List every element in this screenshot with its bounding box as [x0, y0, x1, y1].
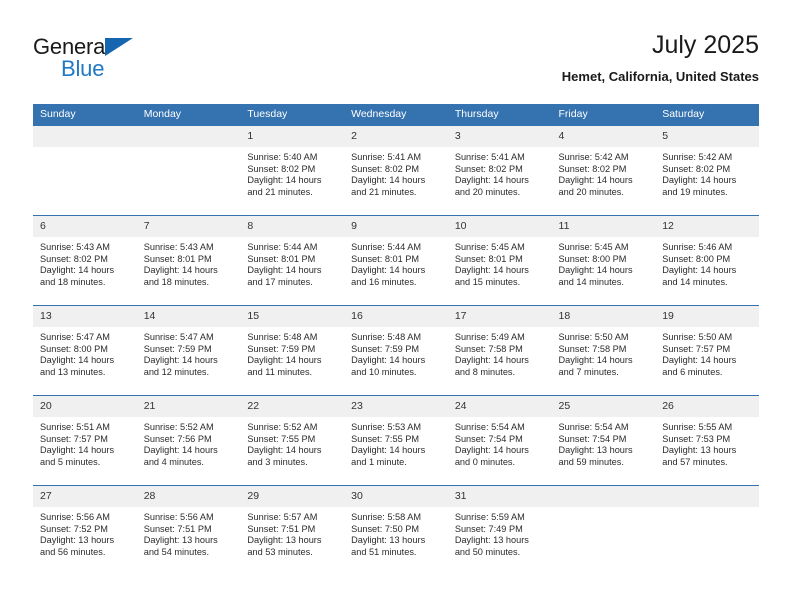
sunrise-text: Sunrise: 5:54 AM	[455, 422, 546, 434]
daylight-text-line2: and 0 minutes.	[455, 457, 546, 469]
day-number: 2	[344, 126, 448, 147]
sunset-text: Sunset: 8:00 PM	[40, 344, 131, 356]
day-number: 1	[240, 126, 344, 147]
sunrise-text: Sunrise: 5:41 AM	[455, 152, 546, 164]
sunrise-text: Sunrise: 5:45 AM	[455, 242, 546, 254]
daylight-text-line1: Daylight: 14 hours	[662, 175, 753, 187]
day-number: 29	[240, 486, 344, 507]
daylight-text-line1: Daylight: 14 hours	[455, 355, 546, 367]
day-sun-info: Sunrise: 5:58 AMSunset: 7:50 PMDaylight:…	[344, 507, 448, 558]
calendar-day-cell[interactable]: 24Sunrise: 5:54 AMSunset: 7:54 PMDayligh…	[448, 396, 552, 486]
sunset-text: Sunset: 8:00 PM	[662, 254, 753, 266]
day-sun-info: Sunrise: 5:43 AMSunset: 8:01 PMDaylight:…	[137, 237, 241, 288]
weekday-header-thursday: Thursday	[448, 104, 552, 126]
sunset-text: Sunset: 7:59 PM	[247, 344, 338, 356]
day-number: 12	[655, 216, 759, 237]
daylight-text-line1: Daylight: 14 hours	[351, 445, 442, 457]
sunrise-text: Sunrise: 5:50 AM	[559, 332, 650, 344]
day-sun-info: Sunrise: 5:42 AMSunset: 8:02 PMDaylight:…	[552, 147, 656, 198]
daylight-text-line2: and 14 minutes.	[662, 277, 753, 289]
daylight-text-line1: Daylight: 14 hours	[559, 265, 650, 277]
day-sun-info: Sunrise: 5:59 AMSunset: 7:49 PMDaylight:…	[448, 507, 552, 558]
weekday-header-tuesday: Tuesday	[240, 104, 344, 126]
sunrise-text: Sunrise: 5:42 AM	[559, 152, 650, 164]
calendar-day-cell[interactable]: 21Sunrise: 5:52 AMSunset: 7:56 PMDayligh…	[137, 396, 241, 486]
daylight-text-line2: and 17 minutes.	[247, 277, 338, 289]
sunset-text: Sunset: 7:52 PM	[40, 524, 131, 536]
page-header: General Blue July 2025 Hemet, California…	[33, 30, 759, 100]
daylight-text-line2: and 54 minutes.	[144, 547, 235, 559]
daylight-text-line1: Daylight: 13 hours	[40, 535, 131, 547]
daylight-text-line2: and 4 minutes.	[144, 457, 235, 469]
sunset-text: Sunset: 7:49 PM	[455, 524, 546, 536]
sunset-text: Sunset: 7:59 PM	[351, 344, 442, 356]
day-sun-info: Sunrise: 5:56 AMSunset: 7:51 PMDaylight:…	[137, 507, 241, 558]
sunrise-text: Sunrise: 5:48 AM	[247, 332, 338, 344]
daylight-text-line2: and 56 minutes.	[40, 547, 131, 559]
daylight-text-line2: and 15 minutes.	[455, 277, 546, 289]
day-sun-info: Sunrise: 5:44 AMSunset: 8:01 PMDaylight:…	[240, 237, 344, 288]
sunrise-text: Sunrise: 5:49 AM	[455, 332, 546, 344]
sunset-text: Sunset: 7:54 PM	[559, 434, 650, 446]
day-number: 6	[33, 216, 137, 237]
daylight-text-line1: Daylight: 14 hours	[662, 265, 753, 277]
sunset-text: Sunset: 7:58 PM	[559, 344, 650, 356]
daylight-text-line2: and 13 minutes.	[40, 367, 131, 379]
daylight-text-line2: and 57 minutes.	[662, 457, 753, 469]
weekday-header-monday: Monday	[137, 104, 241, 126]
day-number	[552, 486, 656, 507]
daylight-text-line2: and 11 minutes.	[247, 367, 338, 379]
daylight-text-line2: and 21 minutes.	[247, 187, 338, 199]
daylight-text-line1: Daylight: 14 hours	[247, 355, 338, 367]
page-title: July 2025	[562, 30, 759, 60]
sunset-text: Sunset: 8:02 PM	[455, 164, 546, 176]
daylight-text-line1: Daylight: 14 hours	[559, 175, 650, 187]
calendar-day-cell[interactable]: 10Sunrise: 5:45 AMSunset: 8:01 PMDayligh…	[448, 216, 552, 306]
daylight-text-line2: and 7 minutes.	[559, 367, 650, 379]
sunrise-text: Sunrise: 5:56 AM	[144, 512, 235, 524]
calendar-body: 1Sunrise: 5:40 AMSunset: 8:02 PMDaylight…	[33, 126, 759, 576]
sunrise-text: Sunrise: 5:47 AM	[144, 332, 235, 344]
daylight-text-line2: and 50 minutes.	[455, 547, 546, 559]
sunrise-text: Sunrise: 5:46 AM	[662, 242, 753, 254]
daylight-text-line2: and 20 minutes.	[455, 187, 546, 199]
sunset-text: Sunset: 8:02 PM	[559, 164, 650, 176]
day-number: 15	[240, 306, 344, 327]
day-number: 10	[448, 216, 552, 237]
calendar-day-cell[interactable]: 4Sunrise: 5:42 AMSunset: 8:02 PMDaylight…	[552, 126, 656, 216]
daylight-text-line2: and 19 minutes.	[662, 187, 753, 199]
sunrise-text: Sunrise: 5:44 AM	[247, 242, 338, 254]
day-sun-info: Sunrise: 5:48 AMSunset: 7:59 PMDaylight:…	[240, 327, 344, 378]
calendar-day-cell[interactable]: 3Sunrise: 5:41 AMSunset: 8:02 PMDaylight…	[448, 126, 552, 216]
daylight-text-line1: Daylight: 14 hours	[247, 175, 338, 187]
sunrise-text: Sunrise: 5:52 AM	[247, 422, 338, 434]
sunrise-text: Sunrise: 5:59 AM	[455, 512, 546, 524]
daylight-text-line2: and 53 minutes.	[247, 547, 338, 559]
day-number: 31	[448, 486, 552, 507]
daylight-text-line2: and 12 minutes.	[144, 367, 235, 379]
sunset-text: Sunset: 8:01 PM	[455, 254, 546, 266]
calendar-day-cell[interactable]: 5Sunrise: 5:42 AMSunset: 8:02 PMDaylight…	[655, 126, 759, 216]
sunrise-text: Sunrise: 5:45 AM	[559, 242, 650, 254]
sunset-text: Sunset: 7:56 PM	[144, 434, 235, 446]
calendar-cell-empty	[552, 486, 656, 576]
calendar-day-cell[interactable]: 8Sunrise: 5:44 AMSunset: 8:01 PMDaylight…	[240, 216, 344, 306]
calendar-day-cell[interactable]: 13Sunrise: 5:47 AMSunset: 8:00 PMDayligh…	[33, 306, 137, 396]
sunset-text: Sunset: 7:55 PM	[247, 434, 338, 446]
calendar-day-cell[interactable]: 12Sunrise: 5:46 AMSunset: 8:00 PMDayligh…	[655, 216, 759, 306]
daylight-text-line1: Daylight: 14 hours	[351, 355, 442, 367]
day-sun-info: Sunrise: 5:53 AMSunset: 7:55 PMDaylight:…	[344, 417, 448, 468]
calendar-week-row: 6Sunrise: 5:43 AMSunset: 8:02 PMDaylight…	[33, 216, 759, 306]
sunrise-text: Sunrise: 5:51 AM	[40, 422, 131, 434]
day-number: 8	[240, 216, 344, 237]
sunrise-text: Sunrise: 5:55 AM	[662, 422, 753, 434]
day-number: 24	[448, 396, 552, 417]
day-number: 25	[552, 396, 656, 417]
sunset-text: Sunset: 7:57 PM	[662, 344, 753, 356]
sunrise-text: Sunrise: 5:44 AM	[351, 242, 442, 254]
day-sun-info: Sunrise: 5:51 AMSunset: 7:57 PMDaylight:…	[33, 417, 137, 468]
title-block: July 2025 Hemet, California, United Stat…	[562, 30, 759, 85]
sunset-text: Sunset: 8:02 PM	[351, 164, 442, 176]
sunrise-text: Sunrise: 5:41 AM	[351, 152, 442, 164]
daylight-text-line1: Daylight: 13 hours	[351, 535, 442, 547]
day-sun-info: Sunrise: 5:46 AMSunset: 8:00 PMDaylight:…	[655, 237, 759, 288]
calendar-week-row: 13Sunrise: 5:47 AMSunset: 8:00 PMDayligh…	[33, 306, 759, 396]
calendar-day-cell[interactable]: 19Sunrise: 5:50 AMSunset: 7:57 PMDayligh…	[655, 306, 759, 396]
daylight-text-line1: Daylight: 14 hours	[455, 265, 546, 277]
daylight-text-line2: and 51 minutes.	[351, 547, 442, 559]
daylight-text-line2: and 8 minutes.	[455, 367, 546, 379]
day-number: 27	[33, 486, 137, 507]
day-sun-info: Sunrise: 5:55 AMSunset: 7:53 PMDaylight:…	[655, 417, 759, 468]
day-sun-info: Sunrise: 5:43 AMSunset: 8:02 PMDaylight:…	[33, 237, 137, 288]
weekday-header-sunday: Sunday	[33, 104, 137, 126]
day-number: 22	[240, 396, 344, 417]
sunset-text: Sunset: 8:00 PM	[559, 254, 650, 266]
sunset-text: Sunset: 8:01 PM	[247, 254, 338, 266]
day-sun-info: Sunrise: 5:45 AMSunset: 8:01 PMDaylight:…	[448, 237, 552, 288]
daylight-text-line2: and 20 minutes.	[559, 187, 650, 199]
day-number	[655, 486, 759, 507]
sunset-text: Sunset: 8:01 PM	[144, 254, 235, 266]
sunrise-text: Sunrise: 5:56 AM	[40, 512, 131, 524]
daylight-text-line1: Daylight: 14 hours	[351, 175, 442, 187]
day-number: 5	[655, 126, 759, 147]
calendar-day-cell[interactable]: 2Sunrise: 5:41 AMSunset: 8:02 PMDaylight…	[344, 126, 448, 216]
day-number	[137, 126, 241, 147]
daylight-text-line2: and 6 minutes.	[662, 367, 753, 379]
day-sun-info: Sunrise: 5:48 AMSunset: 7:59 PMDaylight:…	[344, 327, 448, 378]
day-sun-info: Sunrise: 5:42 AMSunset: 8:02 PMDaylight:…	[655, 147, 759, 198]
daylight-text-line1: Daylight: 14 hours	[351, 265, 442, 277]
daylight-text-line2: and 1 minute.	[351, 457, 442, 469]
daylight-text-line2: and 5 minutes.	[40, 457, 131, 469]
calendar-day-cell[interactable]: 23Sunrise: 5:53 AMSunset: 7:55 PMDayligh…	[344, 396, 448, 486]
day-sun-info: Sunrise: 5:49 AMSunset: 7:58 PMDaylight:…	[448, 327, 552, 378]
location-subtitle: Hemet, California, United States	[562, 69, 759, 85]
sunset-text: Sunset: 7:54 PM	[455, 434, 546, 446]
calendar-day-cell[interactable]: 17Sunrise: 5:49 AMSunset: 7:58 PMDayligh…	[448, 306, 552, 396]
sunset-text: Sunset: 7:55 PM	[351, 434, 442, 446]
day-sun-info: Sunrise: 5:45 AMSunset: 8:00 PMDaylight:…	[552, 237, 656, 288]
day-number: 23	[344, 396, 448, 417]
sunrise-text: Sunrise: 5:48 AM	[351, 332, 442, 344]
sunrise-text: Sunrise: 5:54 AM	[559, 422, 650, 434]
daylight-text-line1: Daylight: 14 hours	[144, 265, 235, 277]
day-number: 18	[552, 306, 656, 327]
day-sun-info: Sunrise: 5:40 AMSunset: 8:02 PMDaylight:…	[240, 147, 344, 198]
sunrise-text: Sunrise: 5:50 AM	[662, 332, 753, 344]
sunset-text: Sunset: 7:59 PM	[144, 344, 235, 356]
calendar-table: Sunday Monday Tuesday Wednesday Thursday…	[33, 104, 759, 576]
day-sun-info: Sunrise: 5:50 AMSunset: 7:57 PMDaylight:…	[655, 327, 759, 378]
calendar-day-cell[interactable]: 27Sunrise: 5:56 AMSunset: 7:52 PMDayligh…	[33, 486, 137, 576]
day-number: 11	[552, 216, 656, 237]
day-number: 3	[448, 126, 552, 147]
daylight-text-line1: Daylight: 14 hours	[40, 355, 131, 367]
calendar-cell-empty	[33, 126, 137, 216]
daylight-text-line2: and 59 minutes.	[559, 457, 650, 469]
day-sun-info: Sunrise: 5:41 AMSunset: 8:02 PMDaylight:…	[344, 147, 448, 198]
sunrise-text: Sunrise: 5:40 AM	[247, 152, 338, 164]
day-number: 21	[137, 396, 241, 417]
sunset-text: Sunset: 7:50 PM	[351, 524, 442, 536]
calendar-week-row: 20Sunrise: 5:51 AMSunset: 7:57 PMDayligh…	[33, 396, 759, 486]
sunset-text: Sunset: 7:57 PM	[40, 434, 131, 446]
daylight-text-line1: Daylight: 14 hours	[247, 445, 338, 457]
general-blue-logo[interactable]: General Blue	[33, 34, 213, 86]
daylight-text-line2: and 10 minutes.	[351, 367, 442, 379]
weekday-header-friday: Friday	[552, 104, 656, 126]
calendar-day-cell[interactable]: 25Sunrise: 5:54 AMSunset: 7:54 PMDayligh…	[552, 396, 656, 486]
sunrise-text: Sunrise: 5:58 AM	[351, 512, 442, 524]
day-sun-info: Sunrise: 5:50 AMSunset: 7:58 PMDaylight:…	[552, 327, 656, 378]
daylight-text-line1: Daylight: 14 hours	[144, 355, 235, 367]
sunset-text: Sunset: 8:02 PM	[247, 164, 338, 176]
day-number: 7	[137, 216, 241, 237]
sunrise-text: Sunrise: 5:43 AM	[40, 242, 131, 254]
calendar-day-cell[interactable]: 31Sunrise: 5:59 AMSunset: 7:49 PMDayligh…	[448, 486, 552, 576]
daylight-text-line1: Daylight: 14 hours	[40, 265, 131, 277]
daylight-text-line1: Daylight: 14 hours	[40, 445, 131, 457]
daylight-text-line1: Daylight: 13 hours	[247, 535, 338, 547]
calendar-day-cell[interactable]: 18Sunrise: 5:50 AMSunset: 7:58 PMDayligh…	[552, 306, 656, 396]
calendar-day-cell[interactable]: 7Sunrise: 5:43 AMSunset: 8:01 PMDaylight…	[137, 216, 241, 306]
daylight-text-line2: and 18 minutes.	[144, 277, 235, 289]
day-number: 17	[448, 306, 552, 327]
daylight-text-line2: and 16 minutes.	[351, 277, 442, 289]
calendar-day-cell[interactable]: 20Sunrise: 5:51 AMSunset: 7:57 PMDayligh…	[33, 396, 137, 486]
calendar-cell-empty	[137, 126, 241, 216]
day-number	[33, 126, 137, 147]
daylight-text-line2: and 18 minutes.	[40, 277, 131, 289]
sunrise-text: Sunrise: 5:53 AM	[351, 422, 442, 434]
sunset-text: Sunset: 7:51 PM	[144, 524, 235, 536]
day-number: 20	[33, 396, 137, 417]
calendar-week-row: 27Sunrise: 5:56 AMSunset: 7:52 PMDayligh…	[33, 486, 759, 576]
day-sun-info: Sunrise: 5:57 AMSunset: 7:51 PMDaylight:…	[240, 507, 344, 558]
sunrise-text: Sunrise: 5:47 AM	[40, 332, 131, 344]
calendar-day-cell[interactable]: 6Sunrise: 5:43 AMSunset: 8:02 PMDaylight…	[33, 216, 137, 306]
day-sun-info: Sunrise: 5:54 AMSunset: 7:54 PMDaylight:…	[552, 417, 656, 468]
calendar-day-cell[interactable]: 9Sunrise: 5:44 AMSunset: 8:01 PMDaylight…	[344, 216, 448, 306]
calendar-day-cell[interactable]: 22Sunrise: 5:52 AMSunset: 7:55 PMDayligh…	[240, 396, 344, 486]
calendar-day-cell[interactable]: 14Sunrise: 5:47 AMSunset: 7:59 PMDayligh…	[137, 306, 241, 396]
day-number: 9	[344, 216, 448, 237]
calendar-cell-empty	[655, 486, 759, 576]
day-number: 26	[655, 396, 759, 417]
calendar-page: General Blue July 2025 Hemet, California…	[0, 0, 792, 612]
daylight-text-line1: Daylight: 14 hours	[662, 355, 753, 367]
sunrise-text: Sunrise: 5:57 AM	[247, 512, 338, 524]
sunrise-text: Sunrise: 5:42 AM	[662, 152, 753, 164]
day-number: 13	[33, 306, 137, 327]
daylight-text-line1: Daylight: 13 hours	[662, 445, 753, 457]
daylight-text-line2: and 3 minutes.	[247, 457, 338, 469]
day-sun-info: Sunrise: 5:52 AMSunset: 7:56 PMDaylight:…	[137, 417, 241, 468]
weekday-header-saturday: Saturday	[655, 104, 759, 126]
sunset-text: Sunset: 7:51 PM	[247, 524, 338, 536]
daylight-text-line2: and 14 minutes.	[559, 277, 650, 289]
calendar-day-cell[interactable]: 26Sunrise: 5:55 AMSunset: 7:53 PMDayligh…	[655, 396, 759, 486]
daylight-text-line1: Daylight: 14 hours	[247, 265, 338, 277]
logo-word-blue: Blue	[61, 56, 104, 82]
day-sun-info: Sunrise: 5:44 AMSunset: 8:01 PMDaylight:…	[344, 237, 448, 288]
sunset-text: Sunset: 7:58 PM	[455, 344, 546, 356]
day-number: 19	[655, 306, 759, 327]
sunset-text: Sunset: 8:02 PM	[662, 164, 753, 176]
calendar-day-cell[interactable]: 30Sunrise: 5:58 AMSunset: 7:50 PMDayligh…	[344, 486, 448, 576]
calendar-day-cell[interactable]: 1Sunrise: 5:40 AMSunset: 8:02 PMDaylight…	[240, 126, 344, 216]
daylight-text-line1: Daylight: 13 hours	[144, 535, 235, 547]
daylight-text-line1: Daylight: 14 hours	[455, 175, 546, 187]
daylight-text-line1: Daylight: 14 hours	[559, 355, 650, 367]
daylight-text-line1: Daylight: 14 hours	[455, 445, 546, 457]
daylight-text-line1: Daylight: 13 hours	[559, 445, 650, 457]
daylight-text-line2: and 21 minutes.	[351, 187, 442, 199]
day-number: 4	[552, 126, 656, 147]
day-number: 16	[344, 306, 448, 327]
sunset-text: Sunset: 8:01 PM	[351, 254, 442, 266]
day-sun-info: Sunrise: 5:56 AMSunset: 7:52 PMDaylight:…	[33, 507, 137, 558]
day-sun-info: Sunrise: 5:47 AMSunset: 8:00 PMDaylight:…	[33, 327, 137, 378]
day-sun-info: Sunrise: 5:47 AMSunset: 7:59 PMDaylight:…	[137, 327, 241, 378]
sunrise-text: Sunrise: 5:52 AM	[144, 422, 235, 434]
logo-triangle-icon	[105, 38, 133, 56]
day-sun-info: Sunrise: 5:52 AMSunset: 7:55 PMDaylight:…	[240, 417, 344, 468]
calendar-day-cell[interactable]: 29Sunrise: 5:57 AMSunset: 7:51 PMDayligh…	[240, 486, 344, 576]
calendar-day-cell[interactable]: 11Sunrise: 5:45 AMSunset: 8:00 PMDayligh…	[552, 216, 656, 306]
sunrise-text: Sunrise: 5:43 AM	[144, 242, 235, 254]
calendar-day-cell[interactable]: 28Sunrise: 5:56 AMSunset: 7:51 PMDayligh…	[137, 486, 241, 576]
sunset-text: Sunset: 8:02 PM	[40, 254, 131, 266]
day-sun-info: Sunrise: 5:41 AMSunset: 8:02 PMDaylight:…	[448, 147, 552, 198]
day-number: 14	[137, 306, 241, 327]
calendar-day-cell[interactable]: 16Sunrise: 5:48 AMSunset: 7:59 PMDayligh…	[344, 306, 448, 396]
day-number: 28	[137, 486, 241, 507]
daylight-text-line1: Daylight: 13 hours	[455, 535, 546, 547]
calendar-header-row: Sunday Monday Tuesday Wednesday Thursday…	[33, 104, 759, 126]
day-number: 30	[344, 486, 448, 507]
sunset-text: Sunset: 7:53 PM	[662, 434, 753, 446]
calendar-week-row: 1Sunrise: 5:40 AMSunset: 8:02 PMDaylight…	[33, 126, 759, 216]
calendar-day-cell[interactable]: 15Sunrise: 5:48 AMSunset: 7:59 PMDayligh…	[240, 306, 344, 396]
weekday-header-wednesday: Wednesday	[344, 104, 448, 126]
day-sun-info: Sunrise: 5:54 AMSunset: 7:54 PMDaylight:…	[448, 417, 552, 468]
daylight-text-line1: Daylight: 14 hours	[144, 445, 235, 457]
